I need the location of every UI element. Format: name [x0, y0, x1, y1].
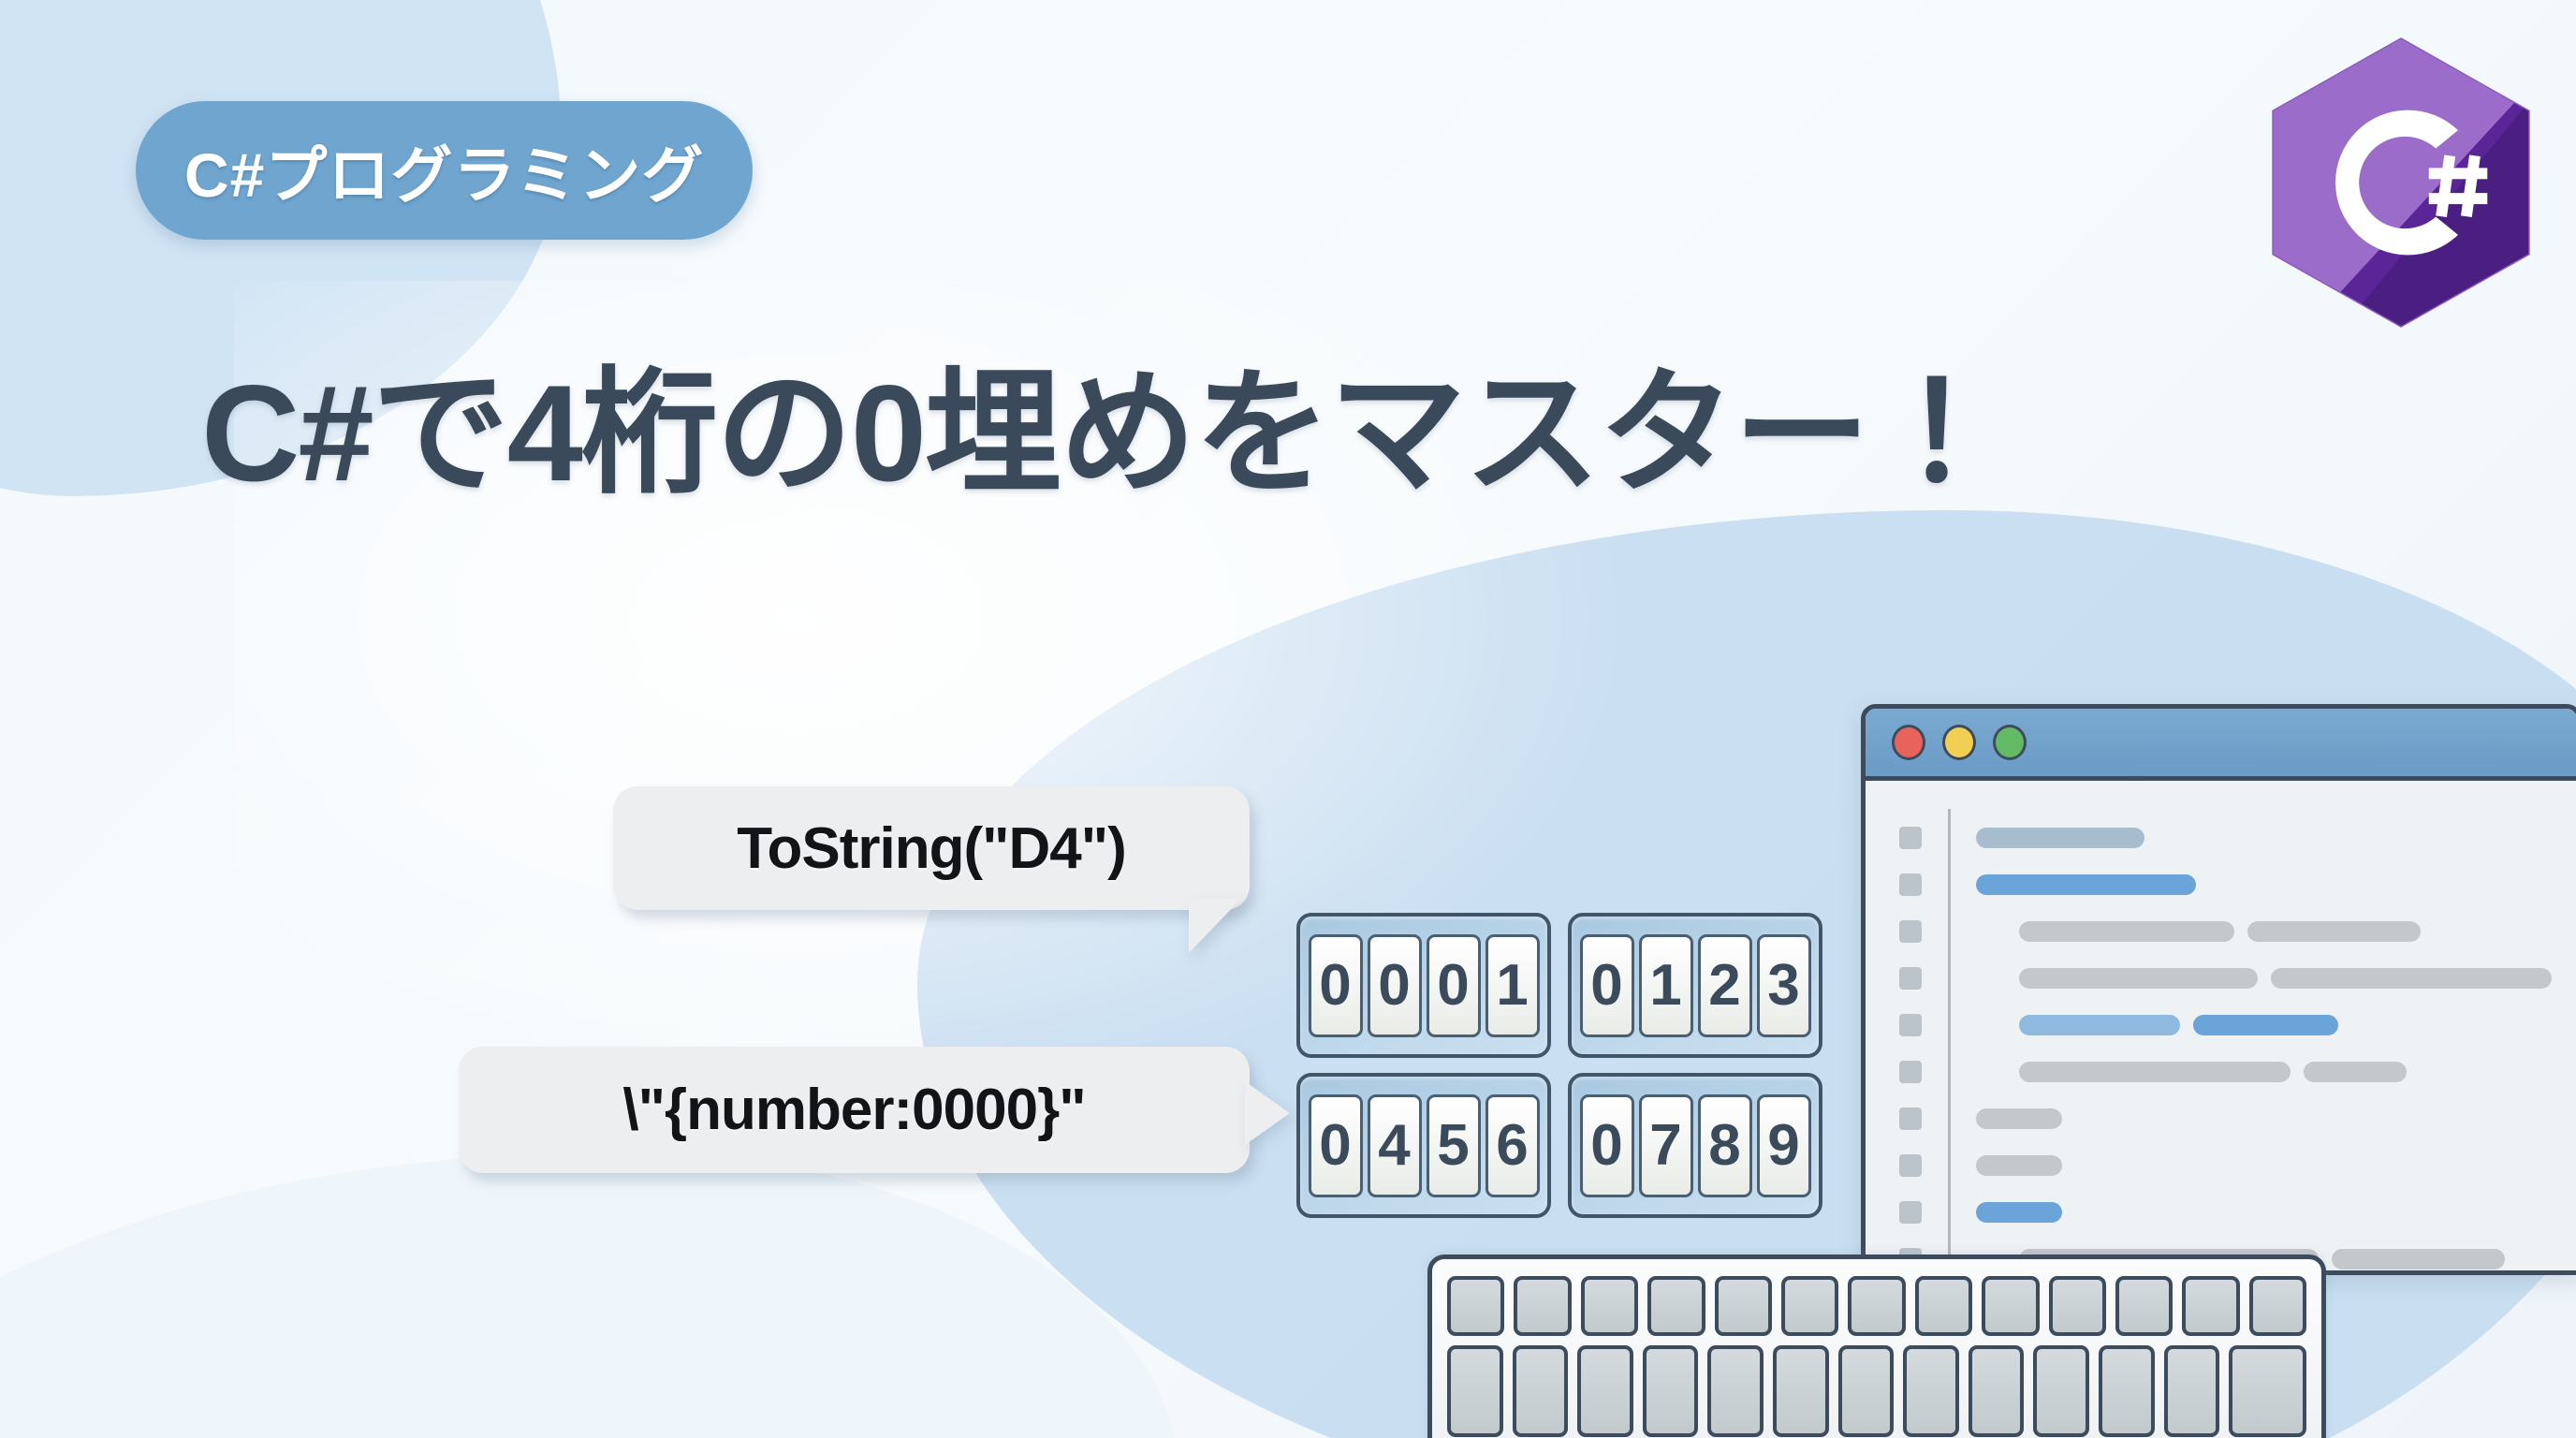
code-token-bar: [1976, 828, 2144, 848]
code-token-group: [2019, 1015, 2338, 1035]
keyboard-key[interactable]: [2182, 1276, 2239, 1336]
keyboard-key[interactable]: [2033, 1345, 2089, 1437]
category-badge-label: C#プログラミング: [184, 125, 704, 215]
csharp-hexagon-logo: [2261, 33, 2541, 332]
digit-tile: 1: [1639, 934, 1693, 1037]
line-number-marker: [1899, 1061, 1922, 1083]
line-number-marker: [1899, 827, 1922, 849]
keyboard-key[interactable]: [1577, 1345, 1633, 1437]
code-line: [1866, 908, 2576, 955]
digit-tile: 0: [1309, 934, 1363, 1037]
keyboard-key[interactable]: [2229, 1345, 2306, 1437]
keyboard-key[interactable]: [1513, 1345, 1569, 1437]
code-line: [1866, 1142, 2576, 1189]
code-editor-window: [1861, 704, 2576, 1275]
keyboard-key[interactable]: [1915, 1276, 1972, 1336]
code-token-group: [1976, 828, 2144, 848]
code-token-bar: [2019, 968, 2258, 989]
keyboard-key[interactable]: [1848, 1276, 1905, 1336]
keyboard-row: [1447, 1276, 2306, 1336]
digit-panel-0123: 0 1 2 3: [1568, 913, 1822, 1058]
digit-tile: 0: [1368, 934, 1422, 1037]
keyboard-key[interactable]: [1838, 1345, 1895, 1437]
code-token-bar: [2304, 1062, 2407, 1082]
category-badge: C#プログラミング: [136, 101, 753, 240]
keyboard-key[interactable]: [1581, 1276, 1638, 1336]
code-token-bar: [1976, 1202, 2062, 1223]
speech-bubble-interpolation-tail: [1245, 1081, 1290, 1145]
keyboard-key[interactable]: [1514, 1276, 1571, 1336]
keyboard-key[interactable]: [1643, 1345, 1699, 1437]
close-dot-icon[interactable]: [1892, 725, 1925, 760]
code-token-bar: [1976, 1155, 2062, 1176]
code-line: [1866, 1049, 2576, 1095]
code-token-bar: [2019, 1062, 2291, 1082]
page-title: C#で4桁の0埋めをマスター！: [201, 323, 2003, 521]
editor-titlebar: [1866, 709, 2576, 781]
keyboard-key[interactable]: [1715, 1276, 1772, 1336]
digit-panel-0456: 0 4 5 6: [1296, 1073, 1551, 1218]
digit-tile: 7: [1639, 1094, 1693, 1197]
line-number-marker: [1899, 1154, 1922, 1177]
digit-tile: 1: [1486, 934, 1540, 1037]
code-token-group: [2019, 1062, 2407, 1082]
speech-bubble-tostring-tail: [1189, 899, 1241, 953]
code-line: [1866, 1002, 2576, 1049]
code-line: [1866, 861, 2576, 908]
digit-tile: 5: [1427, 1094, 1481, 1197]
code-token-bar: [2019, 1015, 2180, 1035]
keyboard-key[interactable]: [1447, 1345, 1503, 1437]
keyboard-key[interactable]: [2049, 1276, 2106, 1336]
code-token-group: [1976, 1202, 2062, 1223]
code-line: [1866, 814, 2576, 861]
keyboard-row: [1447, 1345, 2306, 1437]
keyboard-key[interactable]: [1969, 1345, 2025, 1437]
keyboard-key[interactable]: [1707, 1345, 1764, 1437]
code-token-group: [1976, 1108, 2062, 1129]
digit-tile: 9: [1757, 1094, 1811, 1197]
digit-tile: 0: [1580, 934, 1634, 1037]
thumbnail-canvas: C#プログラミング C#で4桁の0埋めをマスター！: [0, 0, 2576, 1438]
speech-bubble-tostring: ToString("D4"): [613, 786, 1250, 910]
digit-panel-0789: 0 7 8 9: [1568, 1073, 1822, 1218]
speech-bubble-interpolation: \"{number:0000}": [459, 1047, 1250, 1173]
maximize-dot-icon[interactable]: [1993, 725, 2027, 760]
digit-tile: 8: [1698, 1094, 1752, 1197]
keyboard-key[interactable]: [1781, 1276, 1838, 1336]
speech-bubble-tostring-text: ToString("D4"): [737, 815, 1126, 882]
line-number-marker: [1899, 1201, 1922, 1224]
code-token-bar: [1976, 874, 2196, 895]
code-line: [1866, 955, 2576, 1002]
code-token-bar: [1976, 1108, 2062, 1129]
line-number-marker: [1899, 873, 1922, 896]
code-token-group: [1976, 1155, 2062, 1176]
keyboard-key[interactable]: [2249, 1276, 2306, 1336]
keyboard-key[interactable]: [1647, 1276, 1705, 1336]
line-number-marker: [1899, 1014, 1922, 1036]
line-number-marker: [1899, 920, 1922, 943]
minimize-dot-icon[interactable]: [1942, 725, 1976, 760]
keyboard-key[interactable]: [1447, 1276, 1504, 1336]
digit-tile: 0: [1580, 1094, 1634, 1197]
code-token-group: [1976, 874, 2196, 895]
editor-body: [1866, 781, 2576, 1275]
code-token-bar: [2332, 1249, 2505, 1269]
code-token-group: [2019, 921, 2421, 942]
digit-tile: 6: [1486, 1094, 1540, 1197]
code-token-bar: [2247, 921, 2421, 942]
code-line: [1866, 1095, 2576, 1142]
code-line: [1866, 1189, 2576, 1236]
digit-panel-group: 0 0 0 1 0 1 2 3 0 4 5 6 0 7 8 9: [1296, 913, 1822, 1218]
keyboard-key[interactable]: [2099, 1345, 2155, 1437]
code-token-bar: [2019, 921, 2234, 942]
keyboard-key[interactable]: [1903, 1345, 1959, 1437]
code-token-group: [2019, 968, 2552, 989]
digit-tile: 2: [1698, 934, 1752, 1037]
digit-tile: 0: [1427, 934, 1481, 1037]
keyboard-key[interactable]: [1773, 1345, 1829, 1437]
keyboard-key[interactable]: [2115, 1276, 2173, 1336]
speech-bubble-interpolation-text: \"{number:0000}": [622, 1077, 1085, 1143]
digit-tile: 4: [1368, 1094, 1422, 1197]
line-number-marker: [1899, 1108, 1922, 1130]
code-token-bar: [2271, 968, 2552, 989]
digit-panel-0001: 0 0 0 1: [1296, 913, 1551, 1058]
line-number-marker: [1899, 967, 1922, 990]
keyboard-key[interactable]: [2164, 1345, 2220, 1437]
digit-tile: 0: [1309, 1094, 1363, 1197]
code-line-list: [1866, 814, 2576, 1275]
code-token-bar: [2193, 1015, 2338, 1035]
keyboard-key[interactable]: [1982, 1276, 2039, 1336]
background-blob-bottom: [0, 1152, 1179, 1438]
digit-tile: 3: [1757, 934, 1811, 1037]
keyboard-illustration: [1427, 1255, 2326, 1438]
